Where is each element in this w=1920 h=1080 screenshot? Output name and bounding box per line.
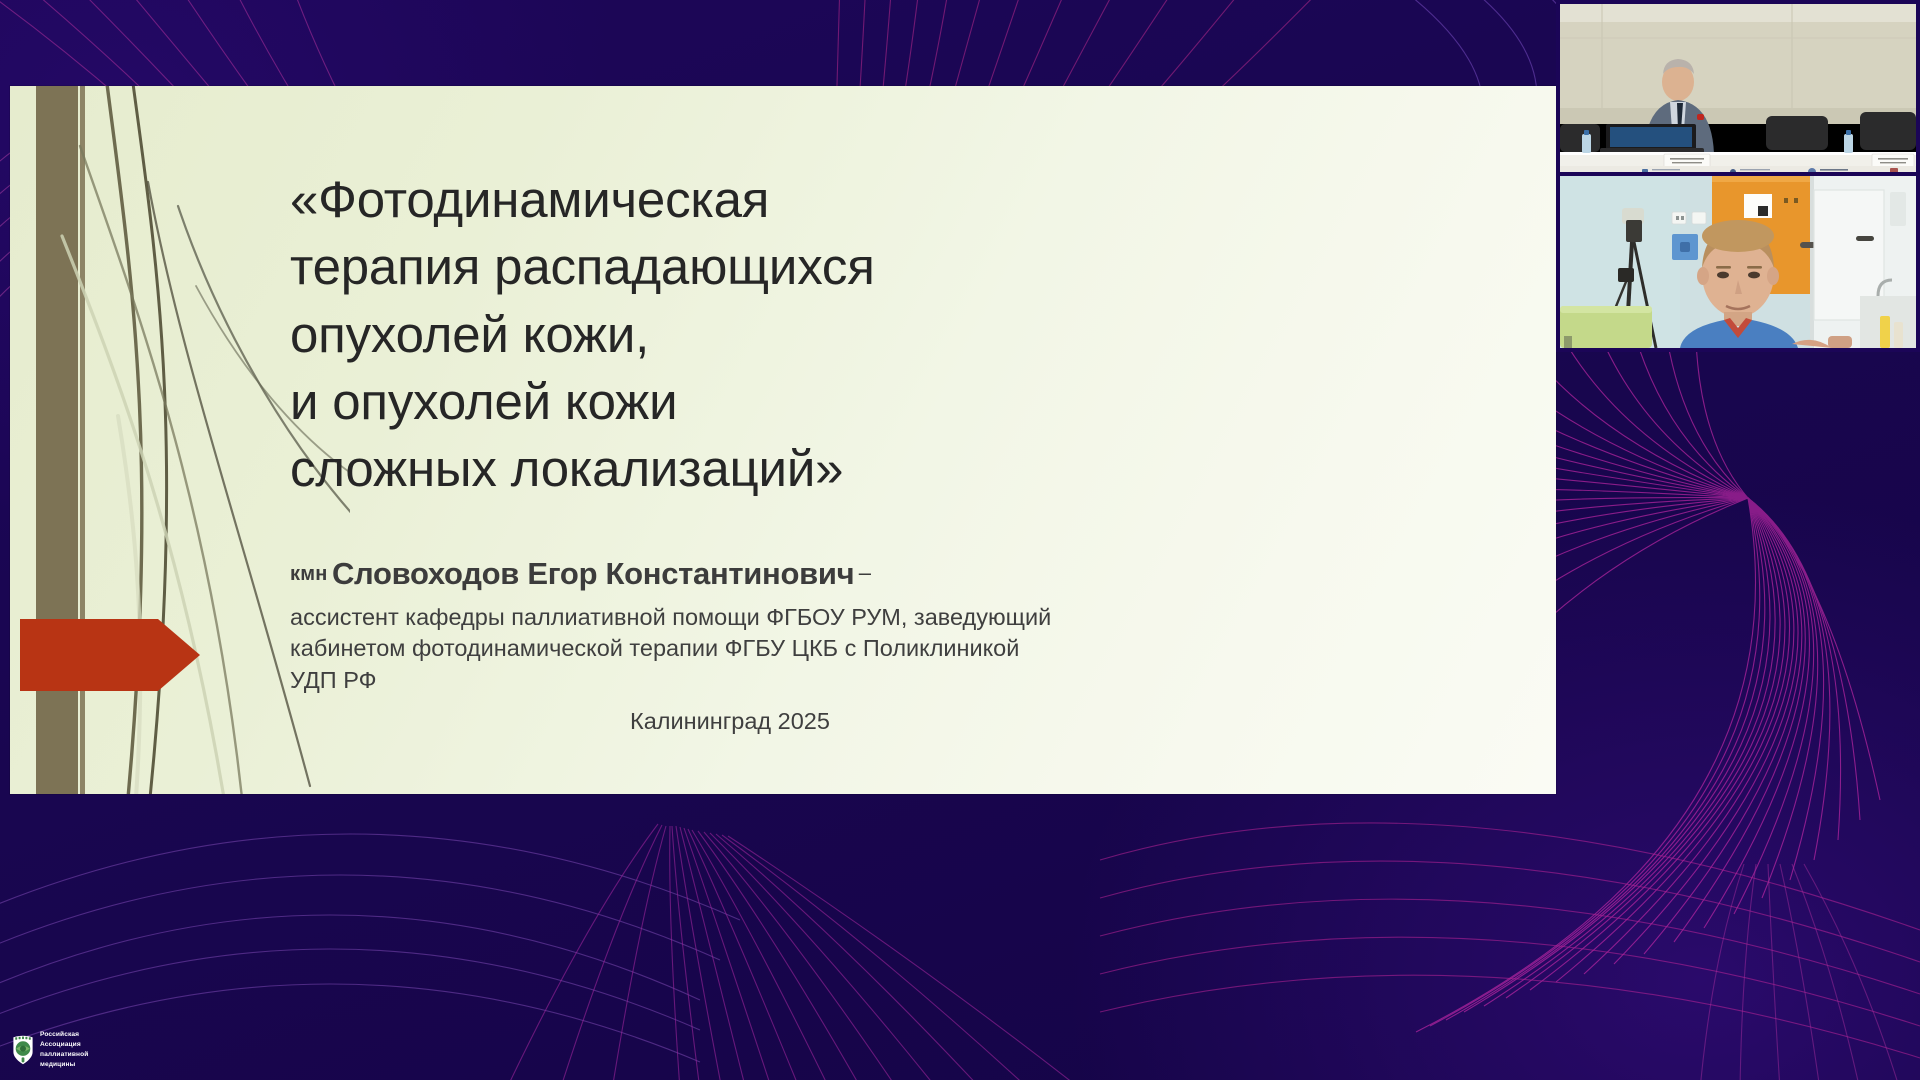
affiliation-line-2: кабинетом фотодинамической терапии ФГБУ … — [290, 633, 1325, 664]
title-line-1: «Фотодинамическая — [290, 166, 1310, 233]
presentation-slide[interactable]: «Фотодинамическая терапия распадающихся … — [10, 86, 1556, 794]
author-name: Словоходов Егор Константинович — [332, 556, 854, 591]
title-line-3: опухолей кожи, — [290, 301, 1310, 368]
video-tile-speaker[interactable] — [1556, 0, 1920, 180]
slide-title: «Фотодинамическая терапия распадающихся … — [290, 166, 1310, 503]
place-and-year: Калининград 2025 — [290, 708, 1170, 735]
speaker-video-frame — [1560, 4, 1916, 176]
video-tile-doctor[interactable] — [1556, 172, 1920, 352]
logo-line-4: медицины — [40, 1060, 88, 1070]
webinar-screen: «Фотодинамическая терапия распадающихся … — [0, 0, 1920, 1080]
association-logo: Российская Ассоциация паллиативной медиц… — [12, 1028, 134, 1072]
arrow-marker-shape — [20, 619, 200, 691]
author-line: кмн Словоходов Егор Константинович – — [290, 556, 1320, 592]
author-affiliation: ассистент кафедры паллиативной помощи ФГ… — [290, 602, 1325, 696]
title-line-4: и опухолей кожи — [290, 368, 1310, 435]
title-line-5: сложных локализаций» — [290, 435, 1310, 502]
author-degree: кмн — [290, 563, 328, 585]
logo-line-1: Российская — [40, 1030, 88, 1040]
affiliation-line-3: УДП РФ — [290, 665, 1325, 696]
logo-line-2: Ассоциация — [40, 1040, 88, 1050]
logo-line-3: паллиативной — [40, 1050, 88, 1060]
author-dash: – — [859, 560, 871, 585]
affiliation-line-1: ассистент кафедры паллиативной помощи ФГ… — [290, 602, 1325, 633]
title-line-2: терапия распадающихся — [290, 233, 1310, 300]
doctor-video-frame — [1560, 176, 1916, 348]
shield-emblem-icon — [12, 1035, 34, 1065]
association-logo-text: Российская Ассоциация паллиативной медиц… — [40, 1030, 88, 1070]
slide-text-block: «Фотодинамическая терапия распадающихся … — [286, 86, 1466, 794]
